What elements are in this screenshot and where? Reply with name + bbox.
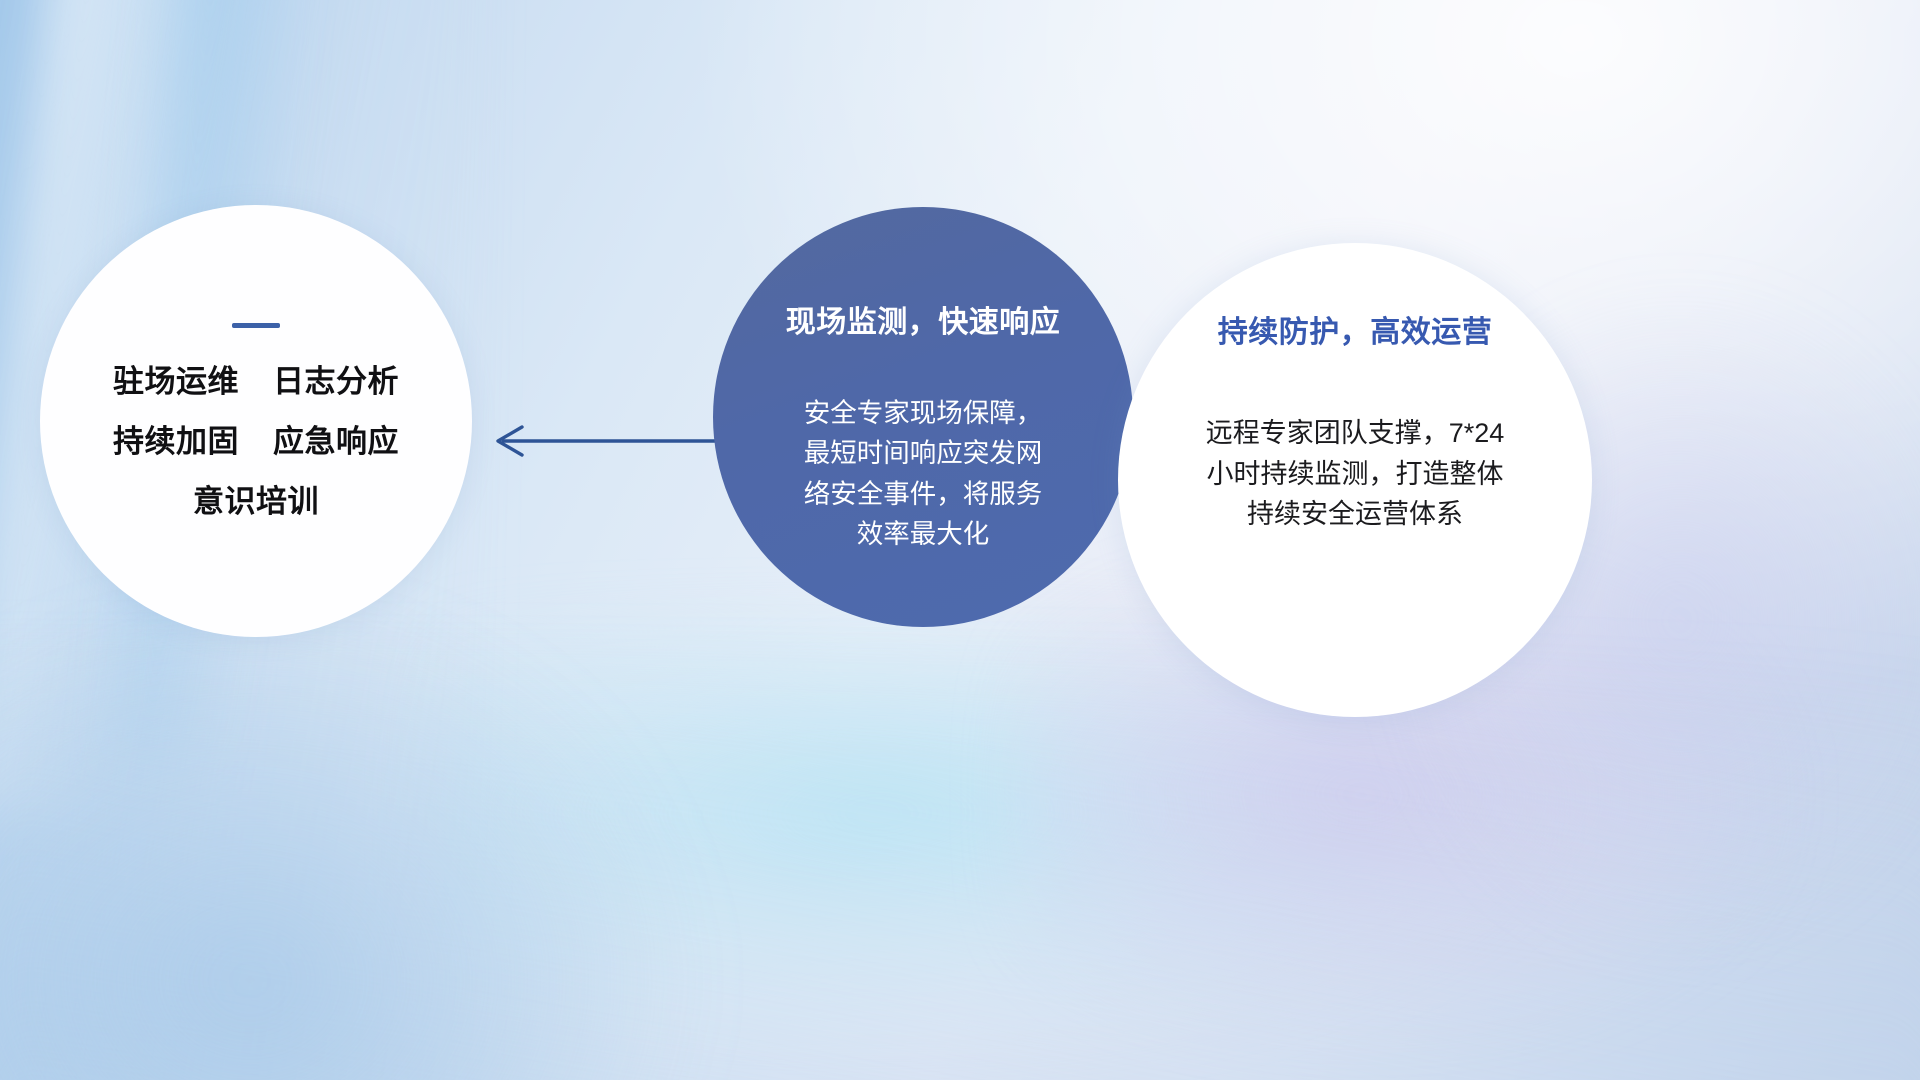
right-card-title: 持续防护，高效运营 <box>1218 307 1493 351</box>
left-card-tag[interactable]: 应急响应 <box>273 426 399 457</box>
mid-card-body-line: 最短时间响应突发网 <box>763 433 1083 473</box>
left-card-circle[interactable]: 驻场运维 日志分析 持续加固 应急响应 意识培训 <box>40 205 472 637</box>
mid-card-body-line: 络安全事件，将服务 <box>763 474 1083 514</box>
right-card-body-line: 小时持续监测，打造整体 <box>1159 454 1551 495</box>
left-card-tag-row: 持续加固 应急响应 <box>40 426 472 457</box>
left-card-tag-list: 驻场运维 日志分析 持续加固 应急响应 意识培训 <box>40 366 472 546</box>
left-card-tag[interactable]: 意识培训 <box>193 486 319 517</box>
right-card-circle[interactable]: 持续防护，高效运营 远程专家团队支撑，7*24 小时持续监测，打造整体 持续安全… <box>1118 243 1592 717</box>
left-card-divider <box>232 323 280 328</box>
left-card-tag[interactable]: 持续加固 <box>113 426 239 457</box>
left-card-tag-row: 意识培训 <box>40 486 472 517</box>
left-card-tag[interactable]: 驻场运维 <box>113 366 239 397</box>
right-card-body: 远程专家团队支撑，7*24 小时持续监测，打造整体 持续安全运营体系 <box>1159 413 1551 535</box>
left-card-tag[interactable]: 日志分析 <box>273 366 399 397</box>
right-card-body-line: 持续安全运营体系 <box>1159 494 1551 535</box>
mid-card-body-line: 安全专家现场保障， <box>763 393 1083 433</box>
mid-card-title: 现场监测，快速响应 <box>786 297 1061 341</box>
mid-card-circle[interactable]: 现场监测，快速响应 安全专家现场保障， 最短时间响应突发网 络安全事件，将服务 … <box>713 207 1133 627</box>
mid-card-body: 安全专家现场保障， 最短时间响应突发网 络安全事件，将服务 效率最大化 <box>763 393 1083 554</box>
background-bottom-left-haze <box>0 600 700 1080</box>
mid-card-body-line: 效率最大化 <box>763 514 1083 554</box>
left-card-tag-row: 驻场运维 日志分析 <box>40 366 472 397</box>
right-card-body-line: 远程专家团队支撑，7*24 <box>1159 413 1551 454</box>
